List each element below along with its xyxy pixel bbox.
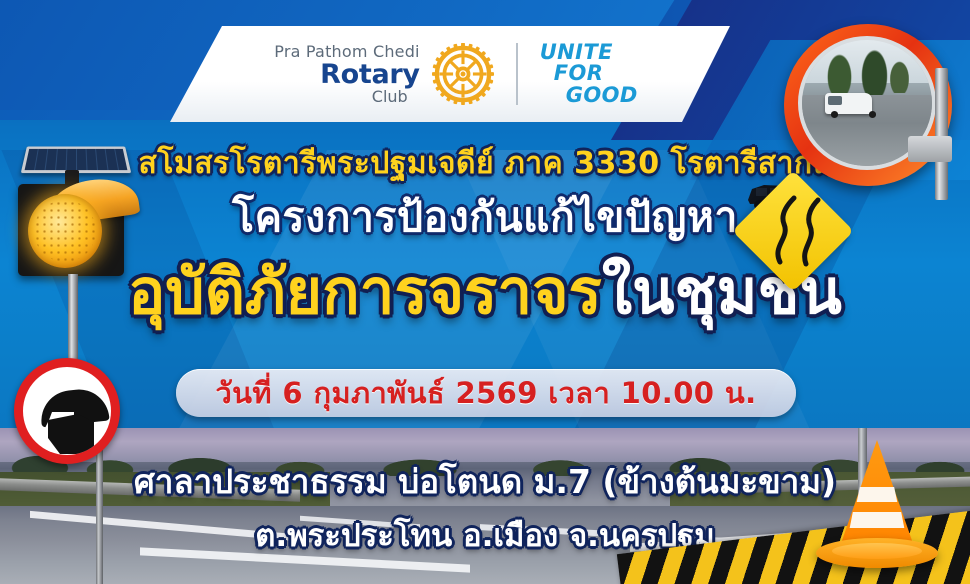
tagline-for: FOR [554,63,638,84]
wear-helmet-sign-icon [14,358,120,464]
mirror-tree-1 [825,50,854,95]
mirror-bracket [908,136,952,162]
rotary-club-name: Pra Pathom Chedi Rotary Club [274,44,419,105]
cone-base [816,538,938,568]
amber-led-lens [28,194,102,268]
traffic-safety-poster: Pra Pathom Chedi Rotary Club [0,0,970,584]
rotary-gear-icon [432,43,494,105]
unite-for-good-tagline: UNITE FOR GOOD [540,42,638,106]
club-name-top: Pra Pathom Chedi [274,44,419,60]
club-name-rotary: Rotary [320,61,420,88]
main-title-yellow: อุบัติภัยการจราจร [128,255,602,328]
mirror-tree-3 [888,58,911,93]
datetime-text: วันที่ 6 กุมภาพันธ์ 2569 เวลา 10.00 น. [215,370,756,416]
tagline-unite: UNITE [540,42,638,63]
tagline-good: GOOD [566,85,638,106]
mirror-tree-2 [859,45,890,98]
mirror-white-van [825,93,872,114]
curve-sign-skid-marks [750,188,836,274]
logo-divider [516,43,518,105]
convex-traffic-mirror-icon [784,24,952,186]
mirror-pole [935,68,948,200]
cone-stripe-upper [838,487,916,502]
rotary-logo-banner: Pra Pathom Chedi Rotary Club [170,26,730,122]
traffic-cone-icon [816,428,938,568]
datetime-pill: วันที่ 6 กุมภาพันธ์ 2569 เวลา 10.00 น. [176,369,796,417]
club-name-club: Club [372,89,408,105]
slippery-curve-warning-sign-icon [750,188,836,274]
helmet-sign-face [26,370,108,452]
